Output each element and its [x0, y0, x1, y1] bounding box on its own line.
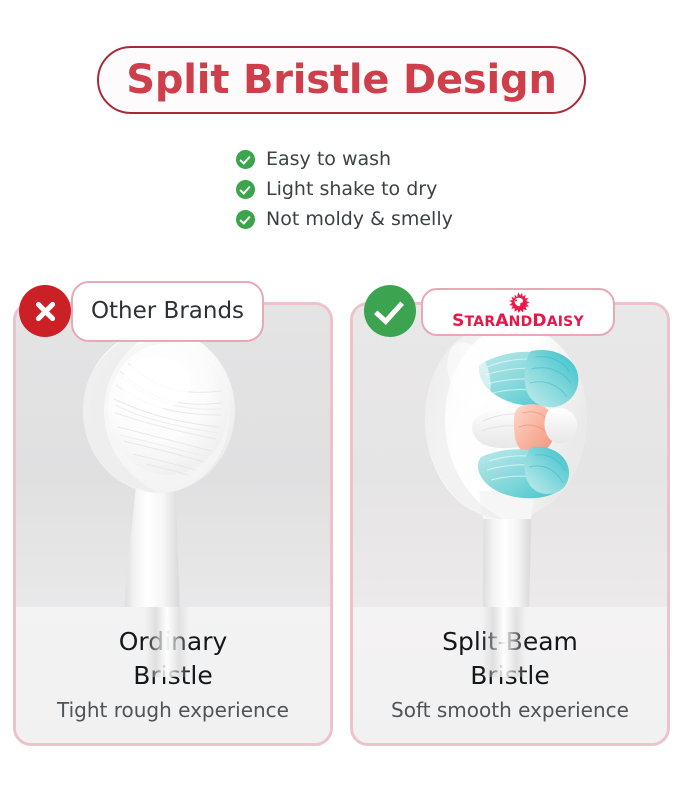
- page-title-banner: Split Bristle Design: [97, 46, 586, 114]
- other-brands-label: Other Brands: [91, 300, 244, 323]
- comparison-card-other-brands: Ordinary Bristle Tight rough experience: [13, 302, 333, 746]
- x-circle-icon: [19, 285, 71, 337]
- other-brand-brush-photo: [16, 305, 330, 613]
- ordinary-toothbrush-illustration: [16, 305, 330, 613]
- feature-item: Not moldy & smelly: [236, 204, 536, 234]
- bristle-title-line2: Bristle: [353, 659, 667, 693]
- feature-list: Easy to wash Light shake to dry Not mold…: [236, 144, 536, 234]
- feature-item: Easy to wash: [236, 144, 536, 174]
- check-circle-icon: [364, 285, 416, 337]
- staranddaisy-wordmark: STARANDDAISY: [452, 313, 584, 330]
- feature-label: Not moldy & smelly: [266, 210, 453, 229]
- other-brand-caption: Ordinary Bristle Tight rough experience: [16, 607, 330, 743]
- feature-label: Light shake to dry: [266, 180, 437, 199]
- other-brands-badge: Other Brands: [71, 281, 264, 342]
- check-circle-icon: [236, 210, 255, 229]
- comparison-card-staranddaisy: Split-Beam Bristle Soft smooth experienc…: [350, 302, 670, 746]
- split-beam-toothbrush-illustration: [353, 305, 667, 613]
- check-circle-icon: [236, 180, 255, 199]
- feature-item: Light shake to dry: [236, 174, 536, 204]
- bristle-title-line2: Bristle: [16, 659, 330, 693]
- staranddaisy-badge: STARANDDAISY: [421, 288, 615, 336]
- check-circle-icon: [236, 150, 255, 169]
- page-title: Split Bristle Design: [126, 60, 557, 100]
- feature-label: Easy to wash: [266, 150, 391, 169]
- bristle-title-line1: Split-Beam: [353, 625, 667, 659]
- bristle-subtitle: Tight rough experience: [16, 697, 330, 723]
- bristle-subtitle: Soft smooth experience: [353, 697, 667, 723]
- staranddaisy-caption: Split-Beam Bristle Soft smooth experienc…: [353, 607, 667, 743]
- bristle-title-line1: Ordinary: [16, 625, 330, 659]
- staranddaisy-brush-photo: [353, 305, 667, 613]
